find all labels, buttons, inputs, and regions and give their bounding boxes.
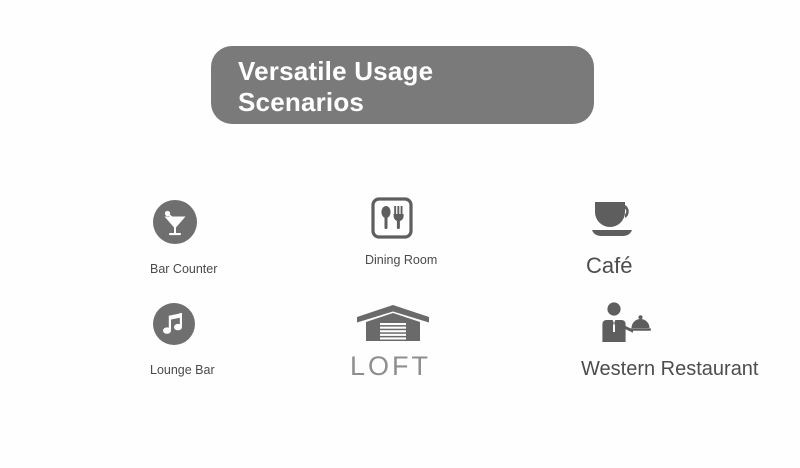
scenario-label-bar-counter: Bar Counter <box>150 262 217 276</box>
waiter-serving-tray-icon <box>600 301 759 350</box>
scenario-item-western-restaurant[interactable]: Western Restaurant <box>600 301 759 381</box>
spoon-fork-icon <box>371 197 437 244</box>
cocktail-glass-icon <box>152 199 217 250</box>
scenario-item-lounge-bar[interactable]: Lounge Bar <box>152 302 215 377</box>
scenario-item-loft[interactable]: LOFT <box>356 303 431 382</box>
scenario-label-western-restaurant: Western Restaurant <box>581 358 759 381</box>
scenario-label-dining-room: Dining Room <box>365 253 437 267</box>
scenario-label-lounge-bar: Lounge Bar <box>150 363 215 377</box>
scenario-item-cafe[interactable]: Café <box>588 196 640 279</box>
scenario-label-cafe: Café <box>586 253 640 279</box>
coffee-cup-icon <box>588 196 640 245</box>
music-note-icon <box>152 302 215 351</box>
scenario-label-loft: LOFT <box>350 351 431 382</box>
usage-scenario-grid: Bar Counter Dining Room <box>0 0 800 468</box>
scenario-item-bar-counter[interactable]: Bar Counter <box>152 199 217 276</box>
warehouse-building-icon <box>356 303 431 348</box>
page-root: Versatile Usage Scenarios Bar Counter <box>0 0 800 468</box>
scenario-item-dining-room[interactable]: Dining Room <box>371 197 437 267</box>
